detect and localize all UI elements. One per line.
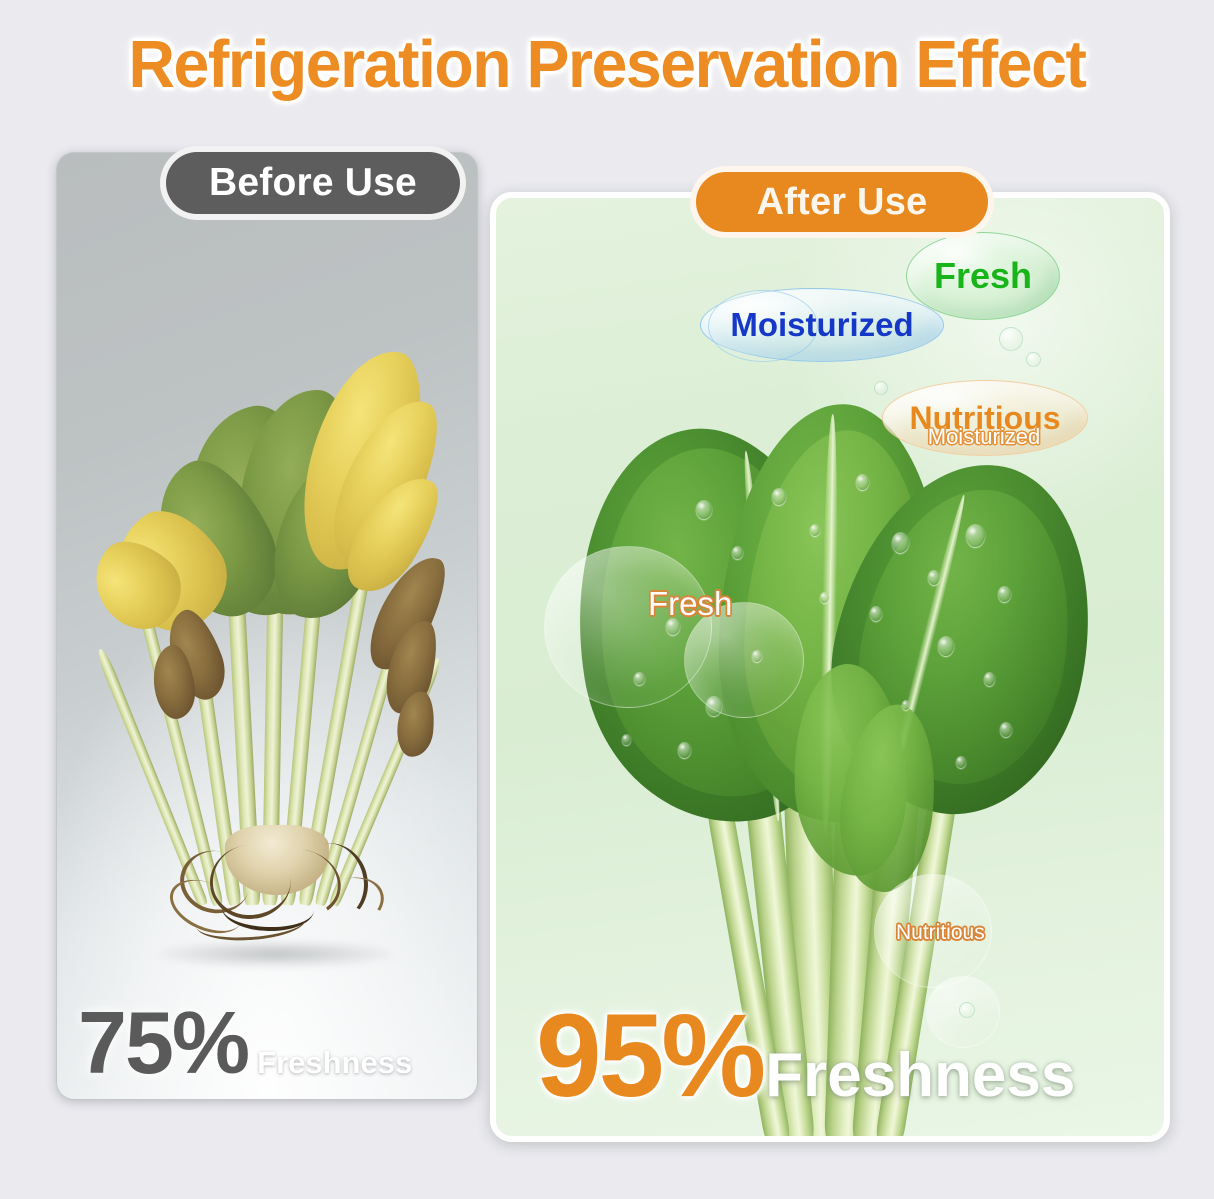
- benefit-label-fresh: Fresh: [934, 255, 1032, 297]
- benefit-label-moisturized: Moisturized: [730, 306, 913, 344]
- stat-label-before: Freshness: [257, 1045, 412, 1081]
- stat-value-after: 95%: [536, 988, 763, 1124]
- stat-after-freshness: 95% Freshness: [536, 988, 1075, 1124]
- stat-before-freshness: 75% Freshness: [78, 992, 412, 1094]
- overlay-label-fresh: Fresh: [648, 585, 732, 623]
- badge-after-use: After Use: [690, 166, 994, 238]
- badge-before-use: Before Use: [160, 146, 466, 220]
- page-title: Refrigeration Preservation Effect: [24, 26, 1189, 103]
- stat-value-before: 75%: [78, 992, 248, 1094]
- benefit-bubble-moisturized: Moisturized: [700, 288, 944, 362]
- overlay-label-nutritious: Nutritious: [896, 921, 985, 945]
- bubble-subcaption-moisturized: Moisturized: [884, 424, 1084, 450]
- wilted-vegetable-illustration: [112, 289, 442, 979]
- mini-bubble-2: [1026, 352, 1041, 367]
- panel-before-use: [56, 152, 478, 1100]
- floor-shadow: [158, 941, 393, 967]
- stat-label-after: Freshness: [765, 1040, 1075, 1111]
- mini-bubble-1: [999, 327, 1023, 351]
- before-use-photo: [57, 153, 477, 1099]
- ghost-bubble-left: [544, 546, 712, 708]
